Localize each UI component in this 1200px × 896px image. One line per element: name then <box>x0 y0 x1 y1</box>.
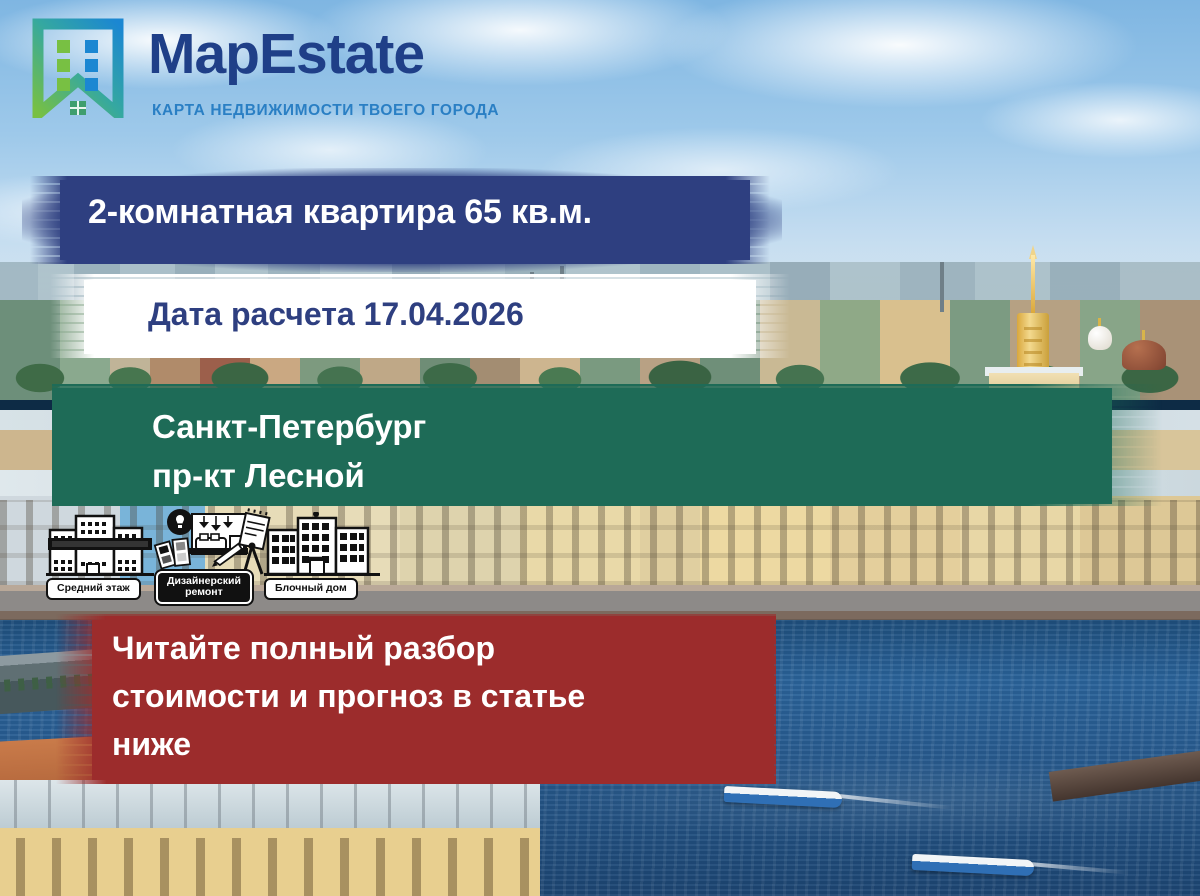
badge-block-house[interactable]: Блочный дом <box>264 512 380 600</box>
cta-text: Читайте полный разбор стоимости и прогно… <box>112 624 772 768</box>
brown-dome-icon <box>1118 330 1170 378</box>
badge-mid-floor[interactable]: Средний этаж <box>46 512 154 600</box>
foreground-building <box>0 780 540 896</box>
brand-tagline: КАРТА НЕДВИЖИМОСТИ ТВОЕГО ГОРОДА <box>152 102 499 120</box>
white-dome-icon <box>1085 318 1115 358</box>
cta-line-3: ниже <box>112 720 772 768</box>
brand-wordmark: MapEstate <box>148 26 424 83</box>
badge-designer-renovation[interactable]: Дизайнерский ремонт <box>152 508 272 604</box>
cta-line-1: Читайте полный разбор <box>112 624 772 672</box>
brand-logo[interactable]: MapEstate КАРТА НЕДВИЖИМОСТИ ТВОЕГО ГОРО… <box>30 18 540 118</box>
peter-and-paul-fortress-icon <box>975 255 1095 400</box>
location-text: Санкт-Петербург пр-кт Лесной <box>152 402 1052 500</box>
designer-renovation-icon <box>152 508 272 580</box>
badge-label-designer-renovation: Дизайнерский ремонт <box>156 571 252 605</box>
feature-badges: Средний этаж <box>46 512 386 608</box>
brand-wordmark-part1: Map <box>148 22 259 86</box>
badge-label-block-house: Блочный дом <box>264 578 358 600</box>
block-house-icon <box>264 512 380 578</box>
chimney-icon <box>940 262 944 312</box>
mid-floor-building-icon <box>46 512 154 578</box>
cta-line-2: стоимости и прогноз в статье <box>112 672 772 720</box>
badge-label-mid-floor: Средний этаж <box>46 578 141 600</box>
badge-label-line1: Дизайнерский <box>167 575 241 587</box>
location-city: Санкт-Петербург <box>152 402 1052 451</box>
badge-label-line2: ремонт <box>185 586 223 598</box>
location-street: пр-кт Лесной <box>152 451 1052 500</box>
calculation-date: Дата расчета 17.04.2026 <box>148 296 808 333</box>
property-promo-poster: MapEstate КАРТА НЕДВИЖИМОСТИ ТВОЕГО ГОРО… <box>0 0 1200 896</box>
property-title: 2-комнатная квартира 65 кв.м. <box>88 193 768 232</box>
bookmark-building-icon <box>30 18 126 118</box>
brand-wordmark-part2: Estate <box>259 22 424 86</box>
